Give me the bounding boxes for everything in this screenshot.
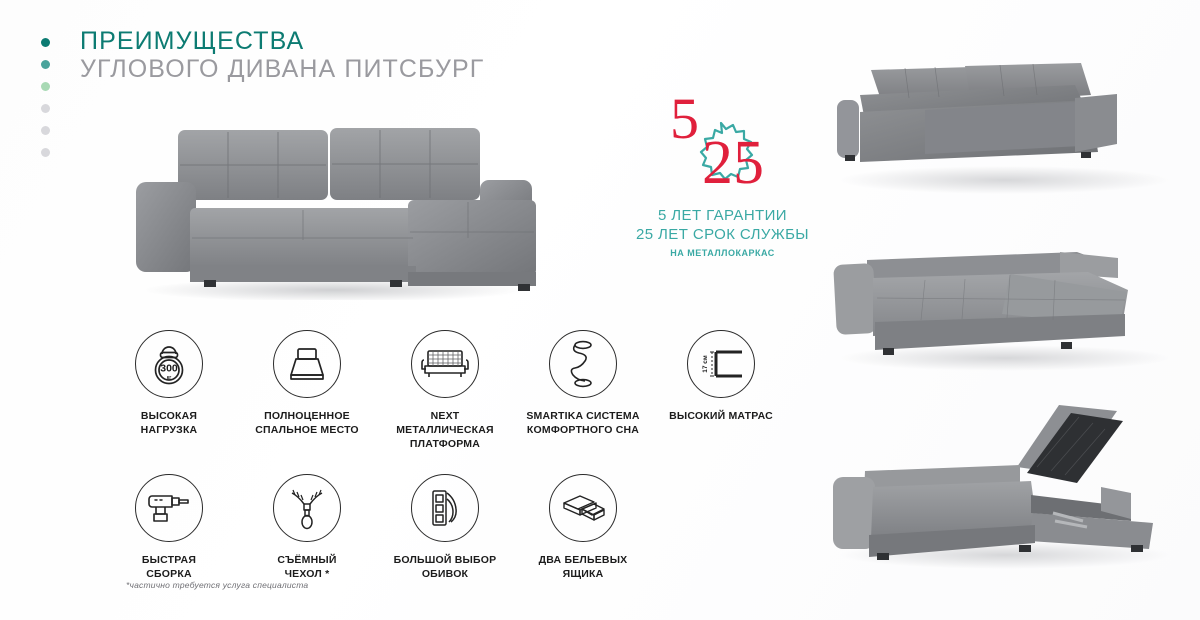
kettlebell-value: 300 [160,363,178,375]
feature-high-mattress: 17 см ВЫСОКИЙ МАТРАС [652,330,790,452]
fabric-swatch-icon [411,474,479,542]
page-title: ПРЕИМУЩЕСТВА [80,28,484,55]
rail-dot-3 [41,82,50,91]
mattress-height-value: 17 см [702,355,709,373]
feature-metal-platform: NEXTМЕТАЛЛИЧЕСКАЯПЛАТФОРМА [376,330,514,452]
feature-grid: 300 кг ВЫСОКАЯНАГРУЗКА ПОЛНОЦЕННОЕСПАЛЬН… [100,330,790,581]
feature-high-load: 300 кг ВЫСОКАЯНАГРУЗКА [100,330,238,452]
zipper-icon [273,474,341,542]
feature-two-storage-drawers: ДВА БЕЛЬЕВЫХЯЩИКА [514,474,652,581]
feature-label: БЫСТРАЯСБОРКА [142,553,196,581]
storage-drawer-icon [549,474,617,542]
sofa-unfolded-bed-view [805,230,1200,390]
sofa-platform-icon [411,330,479,398]
feature-label: ВЫСОКАЯНАГРУЗКА [141,409,198,437]
feature-label: NEXTМЕТАЛЛИЧЕСКАЯПЛАТФОРМА [396,409,494,452]
mattress-height-icon: 17 см [687,330,755,398]
hero-sofa-image [108,120,558,300]
warranty-line-2: 25 ЛЕТ СРОК СЛУЖБЫ [620,226,825,245]
product-photo-column [805,0,1200,620]
slide-root: ПРЕИМУЩЕСТВА УГЛОВОГО ДИВАНА ПИТСБУРГ [0,0,1200,620]
feature-smartika-spring: SMARTIKA СИСТЕМАКОМФОРТНОГО СНА [514,330,652,452]
warranty-mark: 5 25 [620,92,825,207]
warranty-badge: 5 25 5 ЛЕТ ГАРАНТИИ 25 ЛЕТ СРОК СЛУЖБЫ Н… [620,92,825,258]
kettlebell-unit: кг [167,375,172,381]
feature-removable-cover: СЪЁМНЫЙЧЕХОЛ * [238,474,376,581]
warranty-service-number: 25 [702,132,764,194]
feature-full-sleeping-place: ПОЛНОЦЕННОЕСПАЛЬНОЕ МЕСТО [238,330,376,452]
rail-dot-6 [41,148,50,157]
feature-label: SMARTIKA СИСТЕМАКОМФОРТНОГО СНА [526,409,639,437]
footnote: *частично требуется услуга специалиста [126,580,308,590]
feature-label: ПОЛНОЦЕННОЕСПАЛЬНОЕ МЕСТО [255,409,359,437]
bed-icon [273,330,341,398]
page-subtitle: УГЛОВОГО ДИВАНА ПИТСБУРГ [80,55,484,85]
rail-dot-2 [41,60,50,69]
spring-icon [549,330,617,398]
warranty-line-1: 5 ЛЕТ ГАРАНТИИ [620,207,825,226]
feature-label: БОЛЬШОЙ ВЫБОРОБИВОК [394,553,497,581]
drill-icon [135,474,203,542]
rail-dot-4 [41,104,50,113]
sofa-storage-open-view [805,395,1200,585]
kettlebell-icon: 300 кг [135,330,203,398]
dot-rail [41,38,50,157]
page-header: ПРЕИМУЩЕСТВА УГЛОВОГО ДИВАНА ПИТСБУРГ [80,28,484,85]
feature-label: СЪЁМНЫЙЧЕХОЛ * [277,553,336,581]
sofa-back-view [805,40,1200,225]
rail-dot-1 [41,38,50,47]
feature-fast-assembly: БЫСТРАЯСБОРКА [100,474,238,581]
feature-label: ДВА БЕЛЬЕВЫХЯЩИКА [539,553,628,581]
rail-dot-5 [41,126,50,135]
feature-label: ВЫСОКИЙ МАТРАС [669,409,773,423]
feature-upholstery-choice: БОЛЬШОЙ ВЫБОРОБИВОК [376,474,514,581]
warranty-line-3: НА МЕТАЛЛОКАРКАС [620,248,825,258]
